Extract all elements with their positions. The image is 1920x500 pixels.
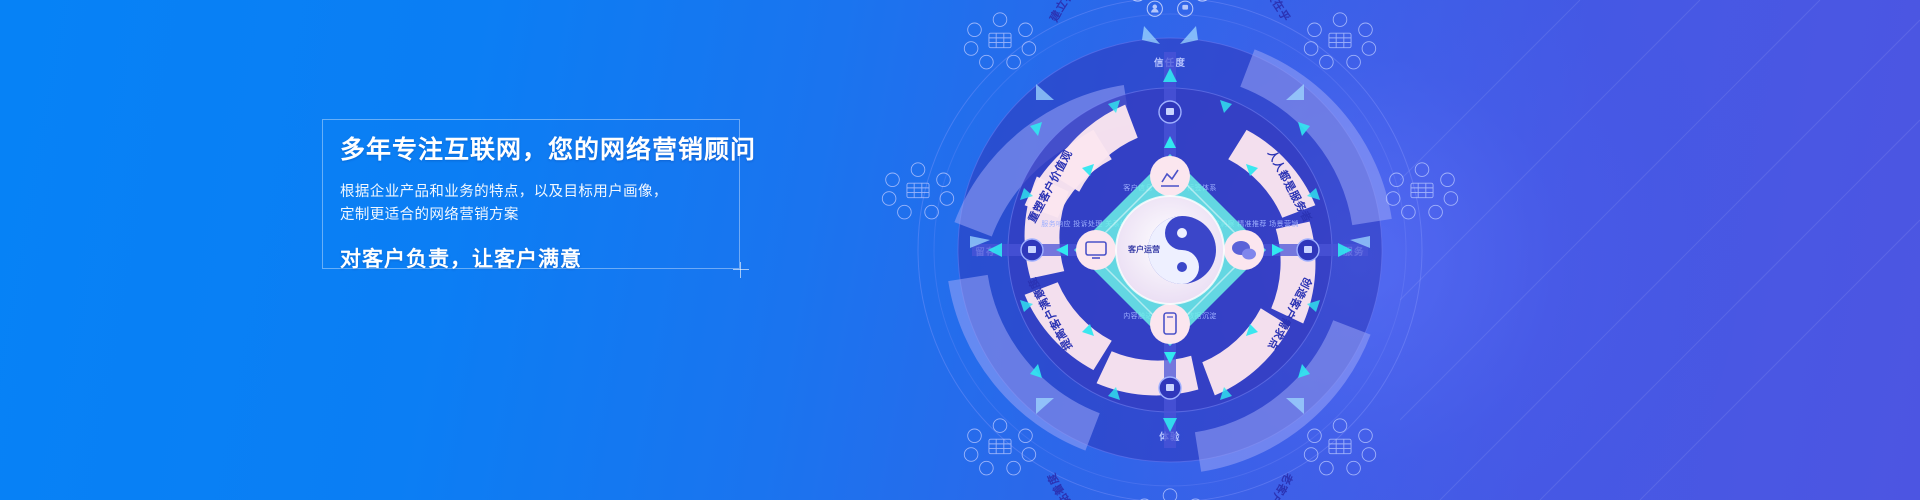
node-cluster-satellites — [882, 13, 1457, 500]
tagline: 对客户负责，让客户满意 — [340, 243, 760, 273]
subheadline-line-2: 定制更适合的网络营销方案 — [340, 204, 760, 227]
headline: 多年专注互联网，您的网络营销顾问 — [340, 133, 760, 167]
customer-ecosystem-wheel-graphic: 引流 转化率 口碑 复购 信任度 服务 体验 留存 — [860, 0, 1480, 500]
copy-block: 多年专注互联网，您的网络营销顾问 根据企业产品和业务的特点，以及目标用户画像， … — [340, 133, 760, 273]
hero-banner: 多年专注互联网，您的网络营销顾问 根据企业产品和业务的特点，以及目标用户画像， … — [0, 0, 1920, 500]
subheadline: 根据企业产品和业务的特点，以及目标用户画像， 定制更适合的网络营销方案 — [340, 181, 760, 227]
subheadline-line-1: 根据企业产品和业务的特点，以及目标用户画像， — [340, 181, 760, 204]
cluster-connector-arrow-icons — [970, 26, 1370, 414]
